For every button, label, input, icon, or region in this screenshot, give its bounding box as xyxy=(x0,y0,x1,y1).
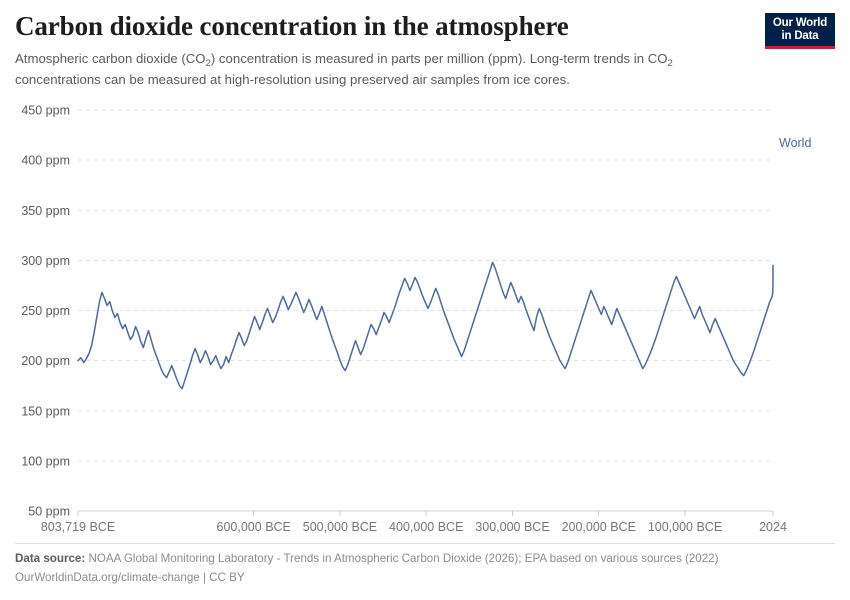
owid-logo-line-1: Our World xyxy=(773,17,827,30)
footer-license[interactable]: OurWorldinData.org/climate-change | CC B… xyxy=(15,570,835,586)
chart-header: Carbon dioxide concentration in the atmo… xyxy=(15,10,835,89)
svg-text:803,719 BCE: 803,719 BCE xyxy=(41,520,115,534)
subtitle-text-1: Atmospheric carbon dioxide (CO xyxy=(15,51,206,66)
svg-text:100,000 BCE: 100,000 BCE xyxy=(648,520,722,534)
co2-line-chart[interactable]: 50 ppm100 ppm150 ppm200 ppm250 ppm300 pp… xyxy=(0,95,850,540)
chart-x-axis-ticks xyxy=(78,511,773,516)
owid-logo[interactable]: Our World in Data xyxy=(765,13,835,49)
chart-page: Carbon dioxide concentration in the atmo… xyxy=(0,0,850,600)
series-line-world[interactable] xyxy=(78,262,773,388)
svg-text:250 ppm: 250 ppm xyxy=(21,304,70,318)
svg-text:200 ppm: 200 ppm xyxy=(21,354,70,368)
subtitle-text-3: concentrations can be measured at high-r… xyxy=(15,72,570,87)
svg-text:350 ppm: 350 ppm xyxy=(21,204,70,218)
subtitle-text-2: ) concentration is measured in parts per… xyxy=(211,51,668,66)
svg-text:150 ppm: 150 ppm xyxy=(21,404,70,418)
footer-source-label: Data source: xyxy=(15,552,85,565)
owid-logo-line-2: in Data xyxy=(782,30,819,43)
svg-text:450 ppm: 450 ppm xyxy=(21,104,70,118)
svg-text:100 ppm: 100 ppm xyxy=(21,454,70,468)
chart-subtitle: Atmospheric carbon dioxide (CO2) concent… xyxy=(15,49,760,89)
subtitle-subscript-1: 2 xyxy=(206,58,211,69)
footer-source: Data source: NOAA Global Monitoring Labo… xyxy=(15,551,835,567)
page-title: Carbon dioxide concentration in the atmo… xyxy=(15,10,755,42)
svg-text:300 ppm: 300 ppm xyxy=(21,254,70,268)
svg-text:400 ppm: 400 ppm xyxy=(21,154,70,168)
series-end-label-world: World xyxy=(779,136,811,150)
footer-source-text: NOAA Global Monitoring Laboratory - Tren… xyxy=(85,552,718,565)
svg-text:300,000 BCE: 300,000 BCE xyxy=(475,520,549,534)
svg-text:50 ppm: 50 ppm xyxy=(28,505,70,519)
chart-y-axis-labels: 50 ppm100 ppm150 ppm200 ppm250 ppm300 pp… xyxy=(21,104,70,519)
chart-footer: Data source: NOAA Global Monitoring Labo… xyxy=(15,543,835,586)
svg-text:600,000 BCE: 600,000 BCE xyxy=(217,520,291,534)
subtitle-subscript-2: 2 xyxy=(668,58,673,69)
svg-text:500,000 BCE: 500,000 BCE xyxy=(303,520,377,534)
chart-series-group xyxy=(78,262,773,388)
svg-text:2024: 2024 xyxy=(759,520,787,534)
chart-gridlines xyxy=(78,110,773,511)
svg-text:200,000 BCE: 200,000 BCE xyxy=(562,520,636,534)
chart-area: 50 ppm100 ppm150 ppm200 ppm250 ppm300 pp… xyxy=(0,95,850,540)
svg-text:400,000 BCE: 400,000 BCE xyxy=(389,520,463,534)
chart-x-axis-labels: 803,719 BCE600,000 BCE500,000 BCE400,000… xyxy=(41,520,787,534)
